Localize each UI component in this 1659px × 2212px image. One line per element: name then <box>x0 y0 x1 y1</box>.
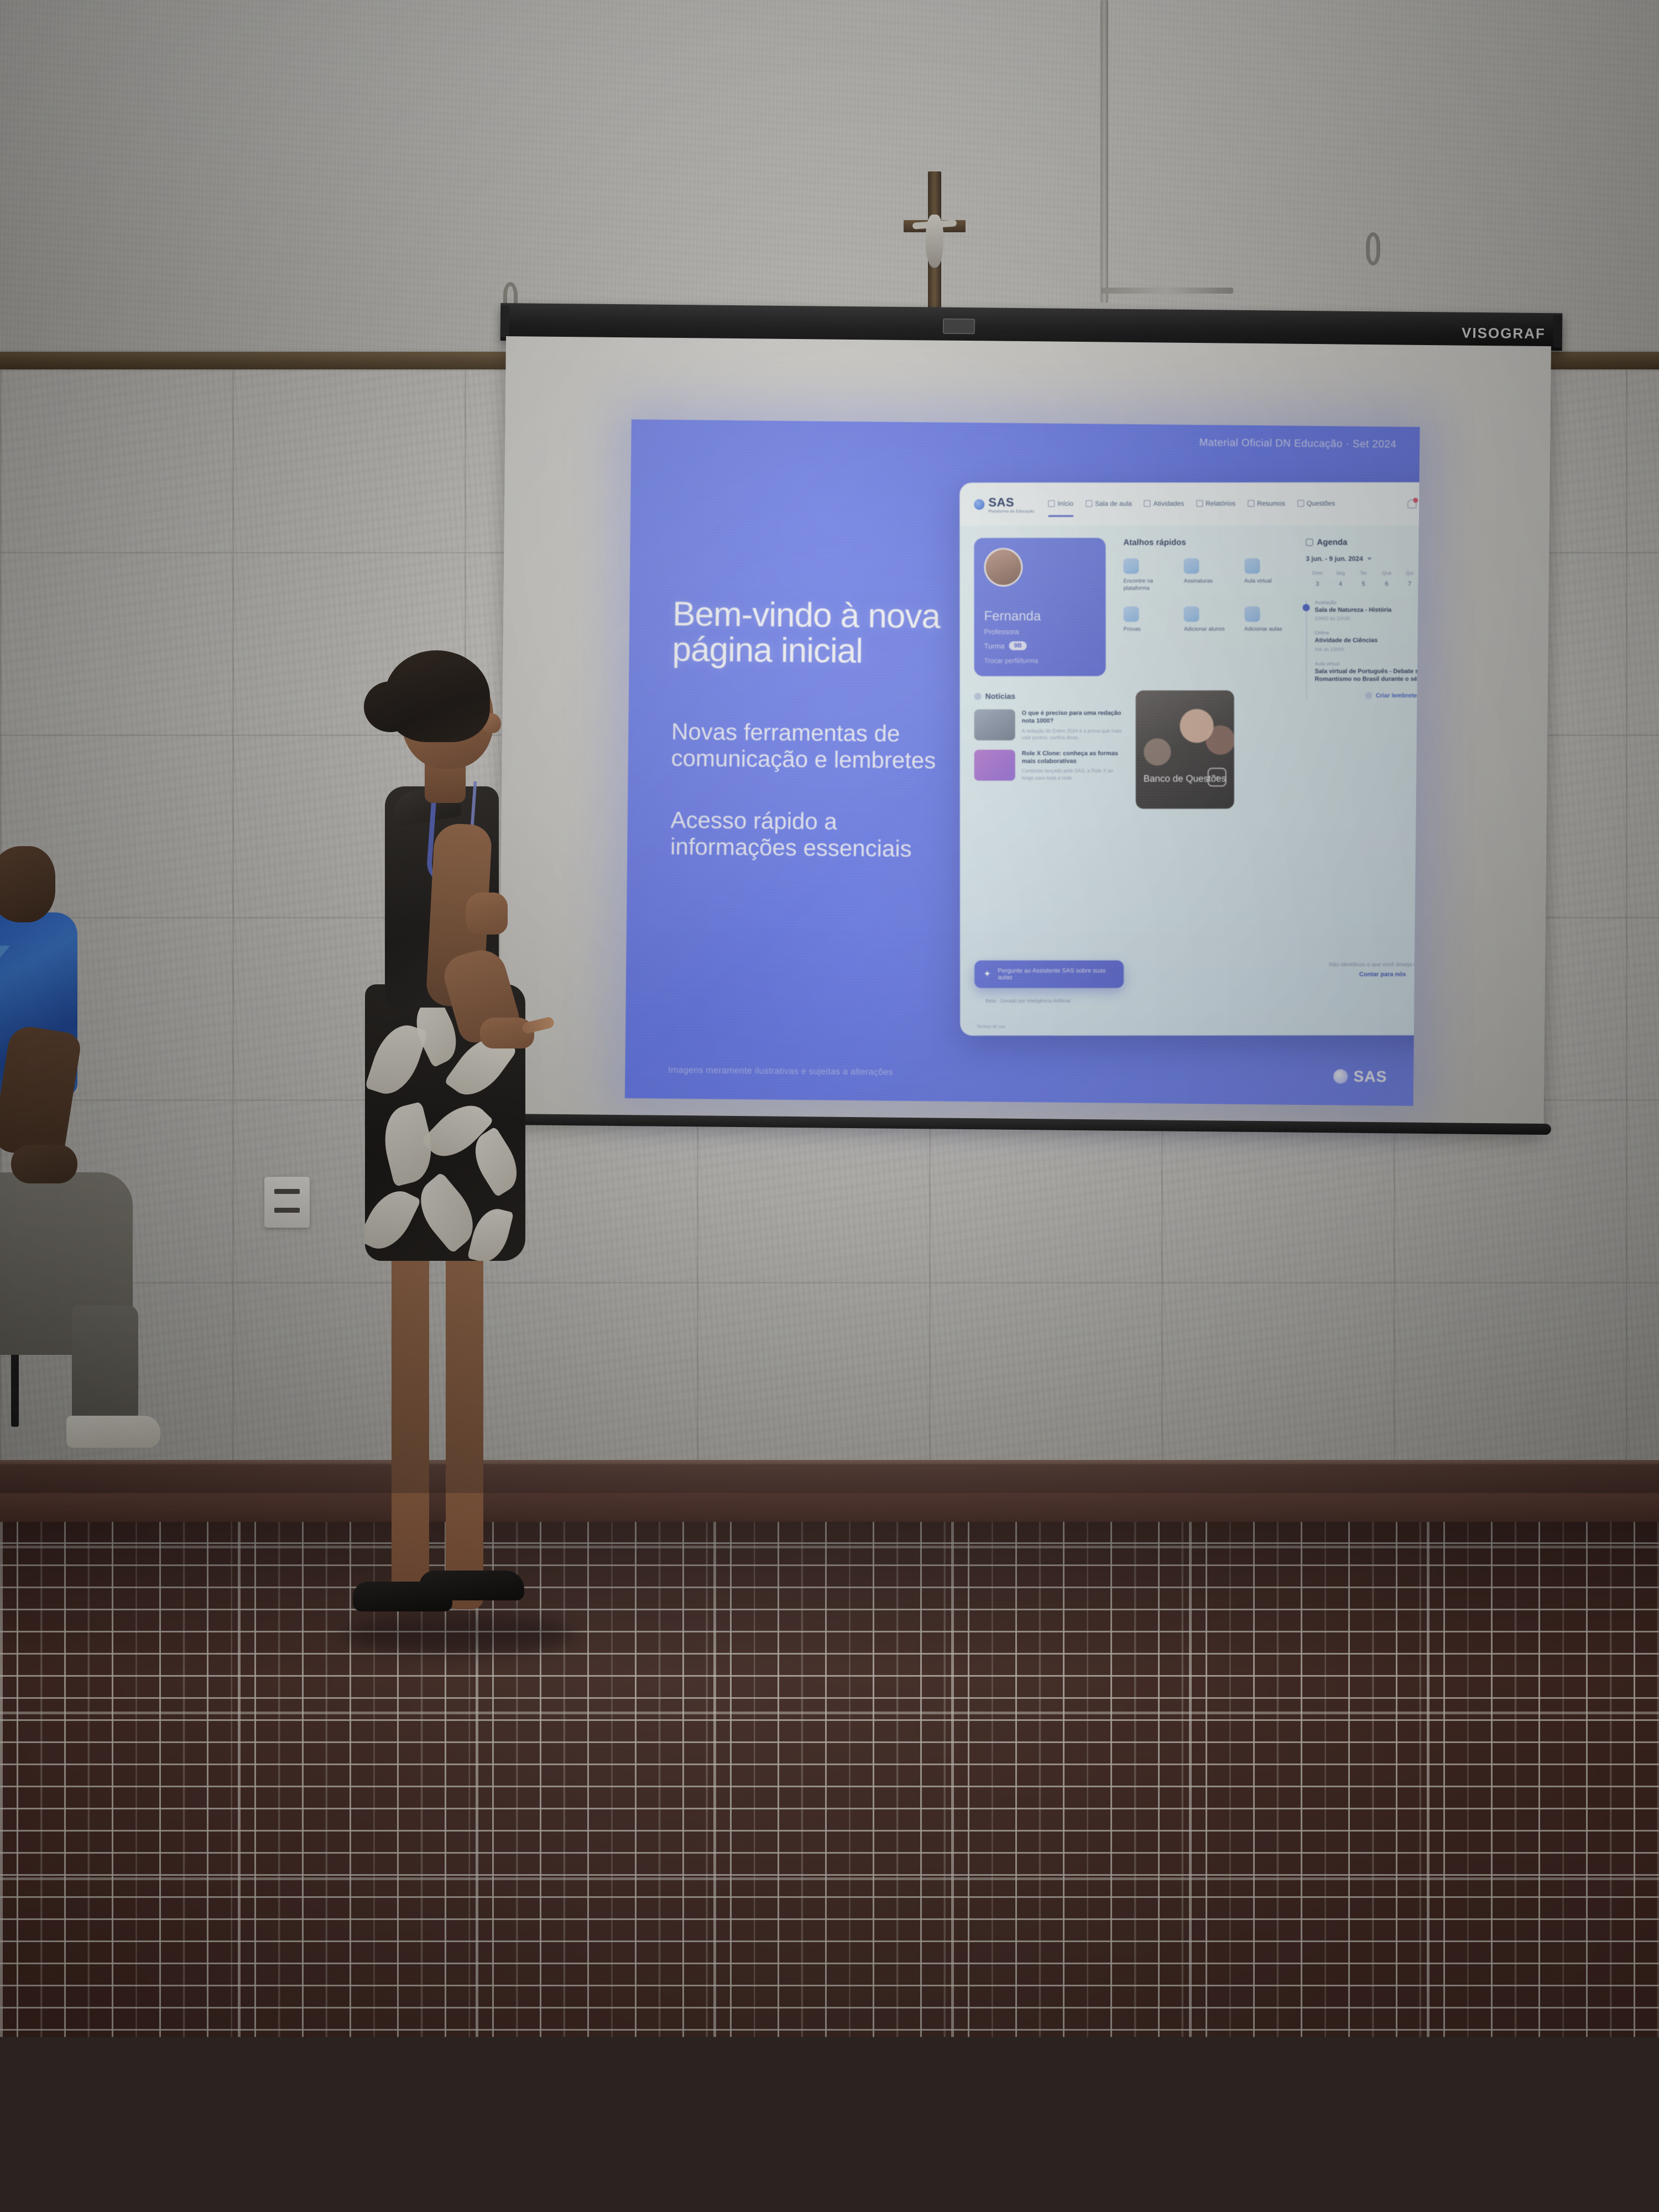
shortcut-label: Encontre na plataforma <box>1123 578 1173 592</box>
activities-icon <box>1144 500 1151 507</box>
news-header: Notícias <box>974 692 1123 701</box>
projected-slide: Material Oficial DN Educação · Set 2024 … <box>625 419 1420 1106</box>
projector-brand-label: VISOGRAF <box>1462 325 1546 342</box>
shortcut-label: Adicionar alunos <box>1184 626 1234 633</box>
nav-label: Início <box>1057 499 1073 507</box>
day-cell[interactable]: 3 <box>1306 581 1329 587</box>
wall-conduit-vertical <box>1100 0 1108 303</box>
shortcuts-title: Atalhos rápidos <box>1123 538 1295 547</box>
presenter-hand-raised <box>466 893 508 935</box>
nav-label: Sala de aula <box>1095 499 1132 507</box>
exam-icon <box>1123 607 1139 622</box>
home-icon <box>1048 500 1055 507</box>
weekday-label: Ter <box>1352 570 1375 576</box>
sas-logo-text: SAS <box>1353 1068 1387 1086</box>
calendar-icon <box>1306 539 1313 546</box>
event-title: Sala virtual de Português - Debate sobre… <box>1315 667 1420 684</box>
nav-item-relatorios[interactable]: Relatórios <box>1196 499 1235 509</box>
nav-label: Relatórios <box>1206 499 1235 507</box>
feedback-question: Não identificou o que você deseja ver aq… <box>1300 962 1420 968</box>
seated-shin <box>72 1305 138 1427</box>
weekday-label: Qui <box>1398 570 1420 576</box>
seated-head <box>0 846 55 922</box>
nav-label: Questões <box>1307 499 1335 507</box>
presentation-scene: VISOGRAF Material Oficial DN Educação · … <box>0 0 1659 2212</box>
ai-hint: Beta · Gerado por Inteligência Artificia… <box>985 998 1071 1004</box>
event-bullet-icon <box>1302 604 1310 611</box>
news-icon <box>974 692 982 700</box>
profile-card[interactable]: Fernanda Professora Turma 9B Trocar perf… <box>974 538 1105 676</box>
notification-badge <box>1413 498 1418 503</box>
shortcut-label: Provas <box>1124 626 1174 633</box>
profile-grade-label: Turma <box>984 641 1005 650</box>
seated-hands <box>11 1145 77 1183</box>
weekday-label: Seg <box>1329 570 1352 576</box>
agenda-event[interactable]: Online Atividade de Ciências Até às 15h0… <box>1315 630 1420 652</box>
event-title: Atividade de Ciências <box>1315 637 1420 645</box>
news-item[interactable]: Role X Clone: conheça as formas mais col… <box>974 749 1123 781</box>
chevron-down-icon[interactable] <box>1368 557 1372 560</box>
mockup-body: Fernanda Professora Turma 9B Trocar perf… <box>959 525 1420 1036</box>
shortcut-item[interactable]: Aula virtual <box>1244 558 1295 592</box>
event-meta: Até às 15h00 <box>1315 646 1420 652</box>
presenter-leg-front <box>446 1244 483 1609</box>
event-title: Sala de Natureza - História <box>1314 606 1420 614</box>
ai-assistant-input[interactable]: ✦ Pergunte ao Assistente SAS sobre suas … <box>974 961 1124 988</box>
shortcuts-grid: Encontre na plataforma Assinaturas Aula … <box>1123 558 1295 633</box>
footer-terms-link[interactable]: Termos de uso <box>977 1024 1005 1029</box>
slide-bullet-2: Acesso rápido a informações essenciais <box>670 807 958 863</box>
agenda-header: Agenda Ver tudo <box>1306 538 1420 547</box>
bell-icon[interactable] <box>1407 499 1416 508</box>
nav-item-sala-de-aula[interactable]: Sala de aula <box>1086 499 1132 509</box>
mockup-nav-items: Início Sala de aula Atividades <box>1048 499 1335 509</box>
summary-icon <box>1248 500 1254 507</box>
weekday-label: Dom <box>1306 570 1329 576</box>
signature-icon <box>1184 558 1199 573</box>
profile-grade-value: 9B <box>1009 641 1027 650</box>
seated-shoe <box>66 1416 160 1448</box>
day-cell[interactable]: 7 <box>1398 581 1420 587</box>
shortcut-item[interactable]: Encontre na plataforma <box>1123 558 1173 592</box>
arrow-glyph: → <box>1213 771 1220 780</box>
nav-label: Atividades <box>1154 499 1184 507</box>
nav-item-resumos[interactable]: Resumos <box>1248 499 1285 509</box>
mockup-navbar: SAS Plataforma de Educação Início <box>959 482 1420 526</box>
agenda-range: 3 jun. - 9 jun. 2024 <box>1306 555 1363 562</box>
crucifix-icon <box>901 171 968 310</box>
wall-outlet <box>264 1177 310 1228</box>
event-type: Aula virtual <box>1315 661 1420 666</box>
slide-kicker: Material Oficial DN Educação · Set 2024 <box>1199 437 1396 451</box>
shortcut-item[interactable]: Assinaturas <box>1184 558 1234 592</box>
shortcut-label: Assinaturas <box>1184 578 1234 585</box>
weekday-label: Qua <box>1375 570 1399 576</box>
presenter-floor-shadow <box>343 1615 575 1653</box>
agenda-events: Avaliação Sala de Natureza - História 10… <box>1306 599 1420 699</box>
presenter-index-finger <box>521 1016 555 1034</box>
sparkle-icon: ✦ <box>983 969 991 980</box>
screen-latch[interactable] <box>943 319 975 335</box>
slide-headline: Bem-vindo à nova página inicial <box>672 597 982 671</box>
presenter-person <box>332 641 708 1692</box>
news-excerpt: Conteúdo lançado pela SAS, a Role X ao l… <box>1022 768 1123 781</box>
seated-arm <box>0 1024 82 1161</box>
footer-privacy-link[interactable]: Política de privacidade <box>1419 1024 1420 1029</box>
create-reminder-label: Criar lembrete <box>1376 692 1417 699</box>
mockup-brand[interactable]: SAS Plataforma de Educação <box>974 495 1038 513</box>
agenda-event[interactable]: Avaliação Sala de Natureza - História 10… <box>1314 599 1420 622</box>
floor <box>0 1522 1659 2212</box>
questions-icon <box>1297 500 1304 507</box>
shortcuts-panel: Atalhos rápidos Encontre na plataforma A… <box>1123 538 1295 633</box>
seated-person <box>0 846 227 1499</box>
profile-avatar <box>984 548 1022 587</box>
slide-bullet-1: Novas ferramentas de comunicação e lembr… <box>671 718 959 774</box>
profile-grade: Turma 9B <box>984 641 1096 650</box>
shortcut-item[interactable]: Adicionar aulas <box>1244 606 1295 633</box>
feedback-action-link[interactable]: Contar para nós <box>1300 971 1420 978</box>
nav-label: Resumos <box>1257 499 1285 507</box>
floor-shading <box>0 1522 1659 2212</box>
day-cell[interactable]: 5 <box>1352 581 1375 587</box>
news-panel: Notícias O que é preciso para uma redaçã… <box>974 692 1123 781</box>
news-headline: O que é preciso para uma redação nota 10… <box>1022 709 1123 726</box>
news-excerpt: A redação do Enem 2024 é a prova que mai… <box>1022 727 1123 740</box>
brand-logo-icon <box>974 499 984 509</box>
news-thumbnail <box>974 709 1015 740</box>
shortcut-item[interactable]: Adicionar alunos <box>1184 606 1234 633</box>
profile-role: Professora <box>984 628 1096 636</box>
add-user-icon <box>1184 606 1199 622</box>
event-type: Avaliação <box>1314 599 1420 605</box>
agenda-range-row: 3 jun. - 9 jun. 2024 ‹ › <box>1306 555 1420 562</box>
nav-item-inicio[interactable]: Início <box>1048 499 1073 509</box>
agenda-event[interactable]: Aula virtual Sala virtual de Português -… <box>1315 661 1420 684</box>
wall-conduit-horizontal <box>1100 288 1233 294</box>
app-mockup: SAS Plataforma de Educação Início <box>959 482 1420 1036</box>
promo-card-banco-de-questoes[interactable]: Banco de Questões → <box>1136 690 1234 808</box>
mockup-nav-right <box>1407 498 1420 510</box>
plus-icon <box>1365 692 1373 699</box>
agenda-panel: Agenda Ver tudo 3 jun. - 9 jun. 2024 ‹ › <box>1306 538 1420 699</box>
search-icon <box>1123 559 1139 574</box>
classroom-icon <box>1086 500 1092 507</box>
shortcut-label: Aula virtual <box>1244 578 1295 585</box>
profile-name: Fernanda <box>984 609 1095 624</box>
day-cell[interactable]: 4 <box>1329 581 1352 587</box>
news-title: Notícias <box>985 692 1015 701</box>
sas-logo-mark <box>1334 1069 1348 1083</box>
news-item[interactable]: O que é preciso para uma redação nota 10… <box>974 709 1123 741</box>
shortcut-label: Adicionar aulas <box>1244 626 1295 633</box>
event-type: Online <box>1315 630 1420 635</box>
create-reminder-button[interactable]: Criar lembrete <box>1315 692 1420 699</box>
mockup-footer: Termos de uso Política de privacidade <box>960 1016 1420 1036</box>
stage-front-face <box>0 1464 1659 1526</box>
screen-hook-right <box>1366 232 1380 265</box>
add-class-icon <box>1244 606 1260 622</box>
news-headline: Role X Clone: conheça as formas mais col… <box>1022 749 1123 765</box>
promo-photo <box>1136 690 1234 808</box>
profile-switch-link[interactable]: Trocar perfil/turma <box>984 657 1096 665</box>
presenter-leg-back <box>392 1244 429 1598</box>
presenter-hair-bun <box>364 681 417 732</box>
event-meta: 10h00 às 11h30 <box>1314 615 1420 621</box>
feedback-block: Não identificou o que você deseja ver aq… <box>1300 962 1420 978</box>
slide-logo: SAS <box>1333 1067 1387 1086</box>
nav-item-atividades[interactable]: Atividades <box>1144 499 1184 509</box>
shortcut-item[interactable]: Provas <box>1123 606 1173 633</box>
ai-placeholder: Pergunte ao Assistente SAS sobre suas au… <box>998 968 1115 981</box>
reports-icon <box>1196 500 1203 507</box>
day-cell[interactable]: 6 <box>1375 581 1399 587</box>
brand-name: SAS <box>988 495 1014 509</box>
nav-item-questoes[interactable]: Questões <box>1297 499 1335 509</box>
video-icon <box>1244 558 1260 573</box>
news-thumbnail <box>974 750 1015 781</box>
agenda-title: Agenda <box>1317 538 1347 547</box>
agenda-weekdays: Dom Seg Ter Qua Qui Sex Sáb 3 4 5 6 <box>1306 570 1420 587</box>
presenter-shoe-front <box>419 1571 524 1600</box>
brand-tagline: Plataforma de Educação <box>988 509 1034 513</box>
